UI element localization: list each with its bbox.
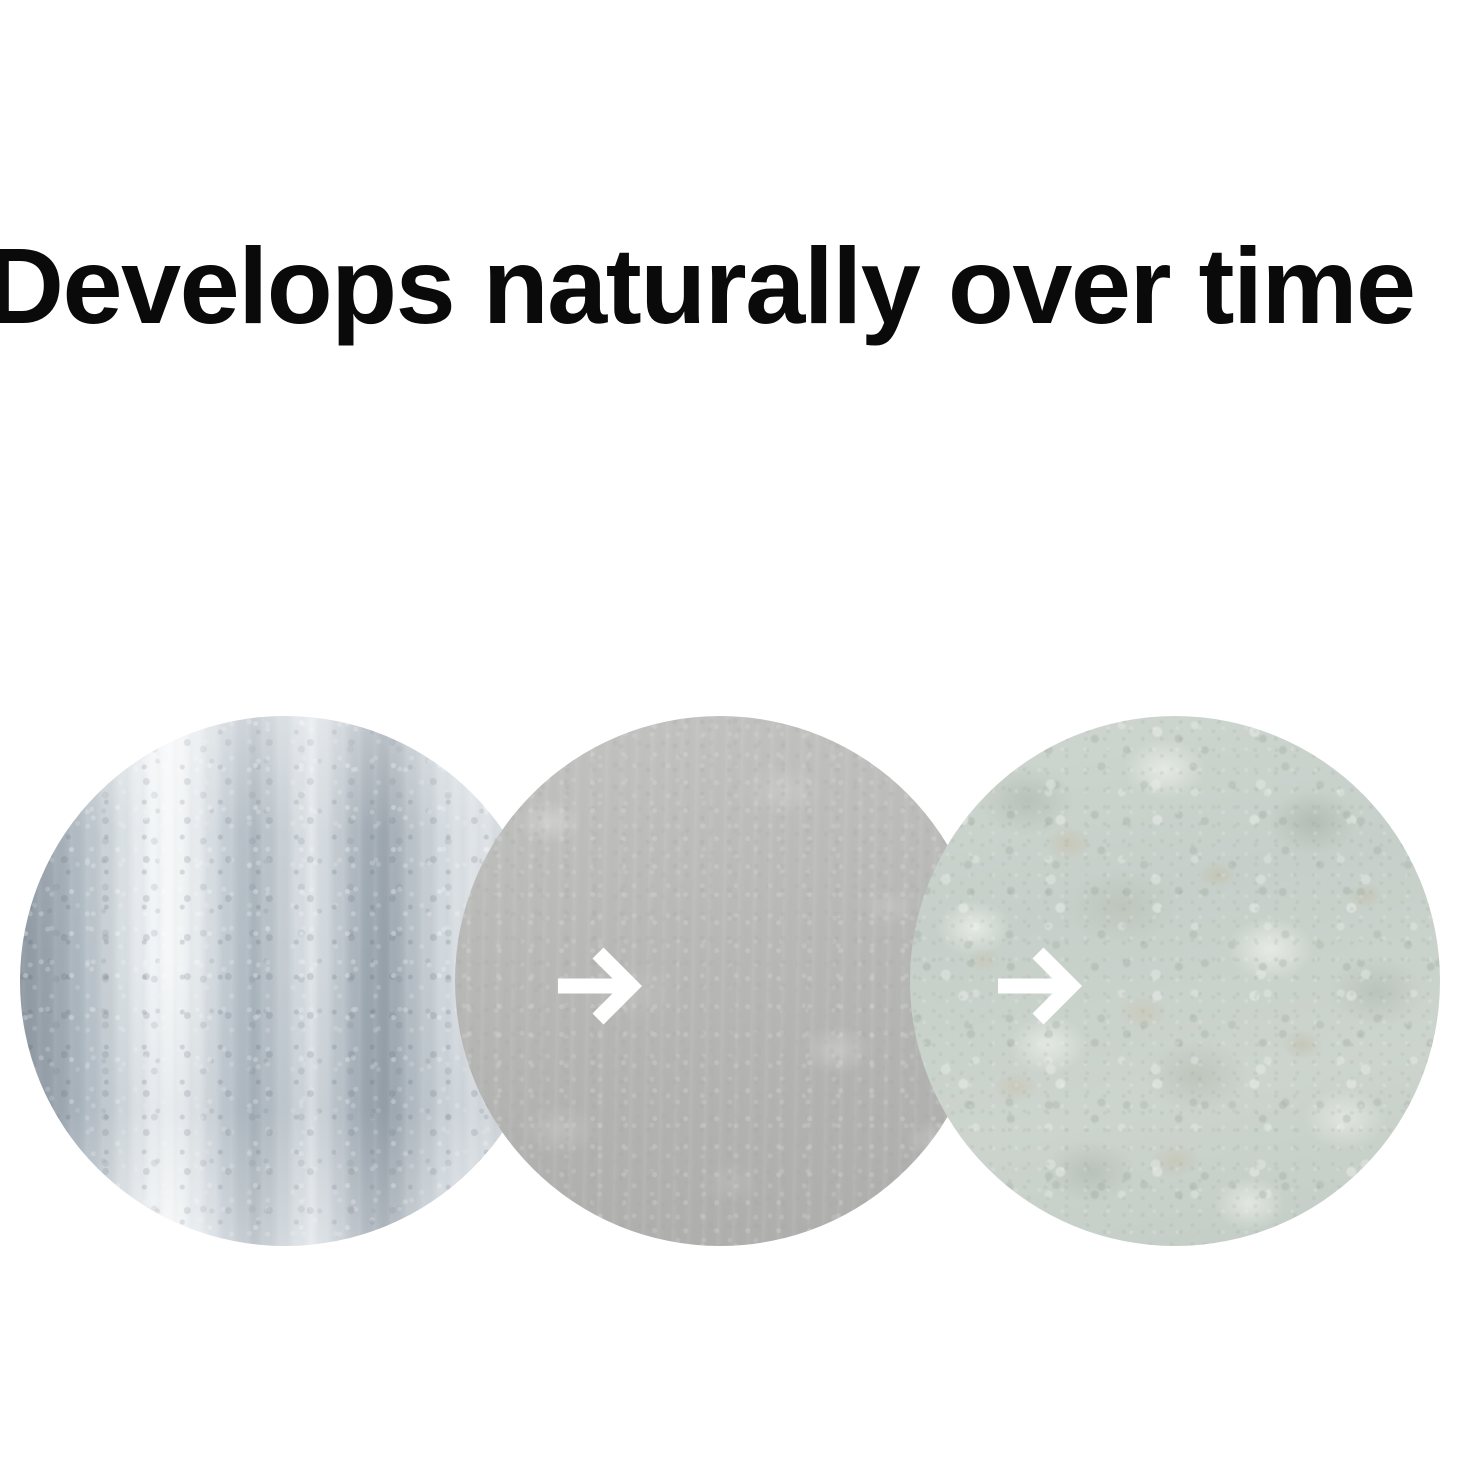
texture-streak-layer	[455, 716, 985, 1246]
page-title: Develops naturally over time	[0, 228, 1415, 344]
headline-container: Develops naturally over time	[0, 228, 1460, 348]
texture-grain-layer	[910, 716, 1440, 1246]
stage-circle-patinated-zinc	[910, 716, 1440, 1246]
stage-circle-dull-weathered-zinc	[455, 716, 985, 1246]
arrow-right-icon	[556, 938, 652, 1034]
slide-canvas: Develops naturally over time	[0, 0, 1460, 1460]
arrow-right-icon	[996, 938, 1092, 1034]
process-stage-row	[0, 716, 1460, 1256]
